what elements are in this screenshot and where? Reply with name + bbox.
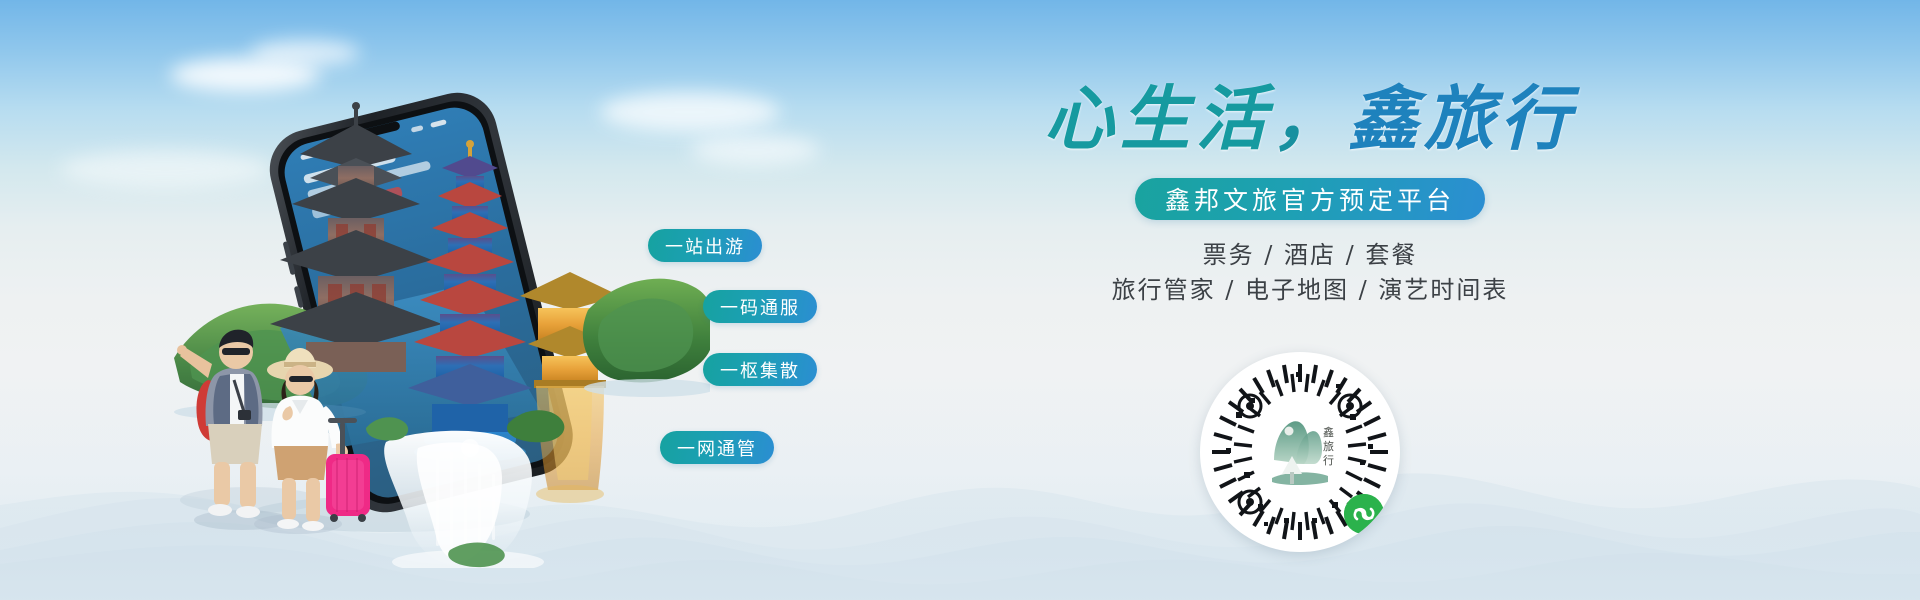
service-line-1: 票务 / 酒店 / 套餐 — [990, 238, 1630, 273]
feature-pill-label: 一网通管 — [677, 435, 757, 461]
feature-pill-one-code-service[interactable]: 一码通服 — [703, 290, 817, 323]
badge-label: 鑫邦文旅官方预定平台 — [1165, 181, 1455, 217]
svg-text:行: 行 — [1323, 454, 1334, 467]
headline-part-b: 鑫旅行 — [1348, 77, 1576, 160]
phone-scenery-illustration — [150, 28, 710, 568]
official-platform-badge: 鑫邦文旅官方预定平台 — [1135, 178, 1485, 220]
svg-text:鑫: 鑫 — [1323, 425, 1334, 439]
qr-code-block[interactable]: 鑫 旅 行 — [1200, 352, 1400, 552]
feature-pill-label: 一码通服 — [720, 294, 800, 320]
feature-pill-one-stop-travel[interactable]: 一站出游 — [648, 229, 762, 262]
headline-part-a: 心生活 — [1044, 77, 1272, 160]
service-list: 票务 / 酒店 / 套餐 旅行管家 / 电子地图 / 演艺时间表 — [990, 238, 1630, 308]
headline-comma: ， — [1272, 77, 1348, 160]
promo-copy-block: 心生活，鑫旅行 鑫邦文旅官方预定平台 票务 / 酒店 / 套餐 旅行管家 / 电… — [990, 84, 1630, 308]
qr-code-disc[interactable]: 鑫 旅 行 — [1200, 352, 1400, 552]
wechat-mini-program-icon[interactable] — [1344, 494, 1384, 534]
travel-promo-banner: 一站出游 一码通服 一枢集散 一网通管 心生活，鑫旅行 鑫邦文旅官方预定平台 票… — [0, 0, 1920, 600]
headline: 心生活，鑫旅行 — [990, 84, 1630, 154]
feature-pill-one-hub-transfer[interactable]: 一枢集散 — [703, 353, 817, 386]
feature-pill-one-network-management[interactable]: 一网通管 — [660, 431, 774, 464]
feature-pill-label: 一站出游 — [665, 233, 745, 259]
svg-text:旅: 旅 — [1323, 439, 1334, 453]
feature-pill-label: 一枢集散 — [720, 357, 800, 383]
service-line-2: 旅行管家 / 电子地图 / 演艺时间表 — [990, 273, 1630, 308]
